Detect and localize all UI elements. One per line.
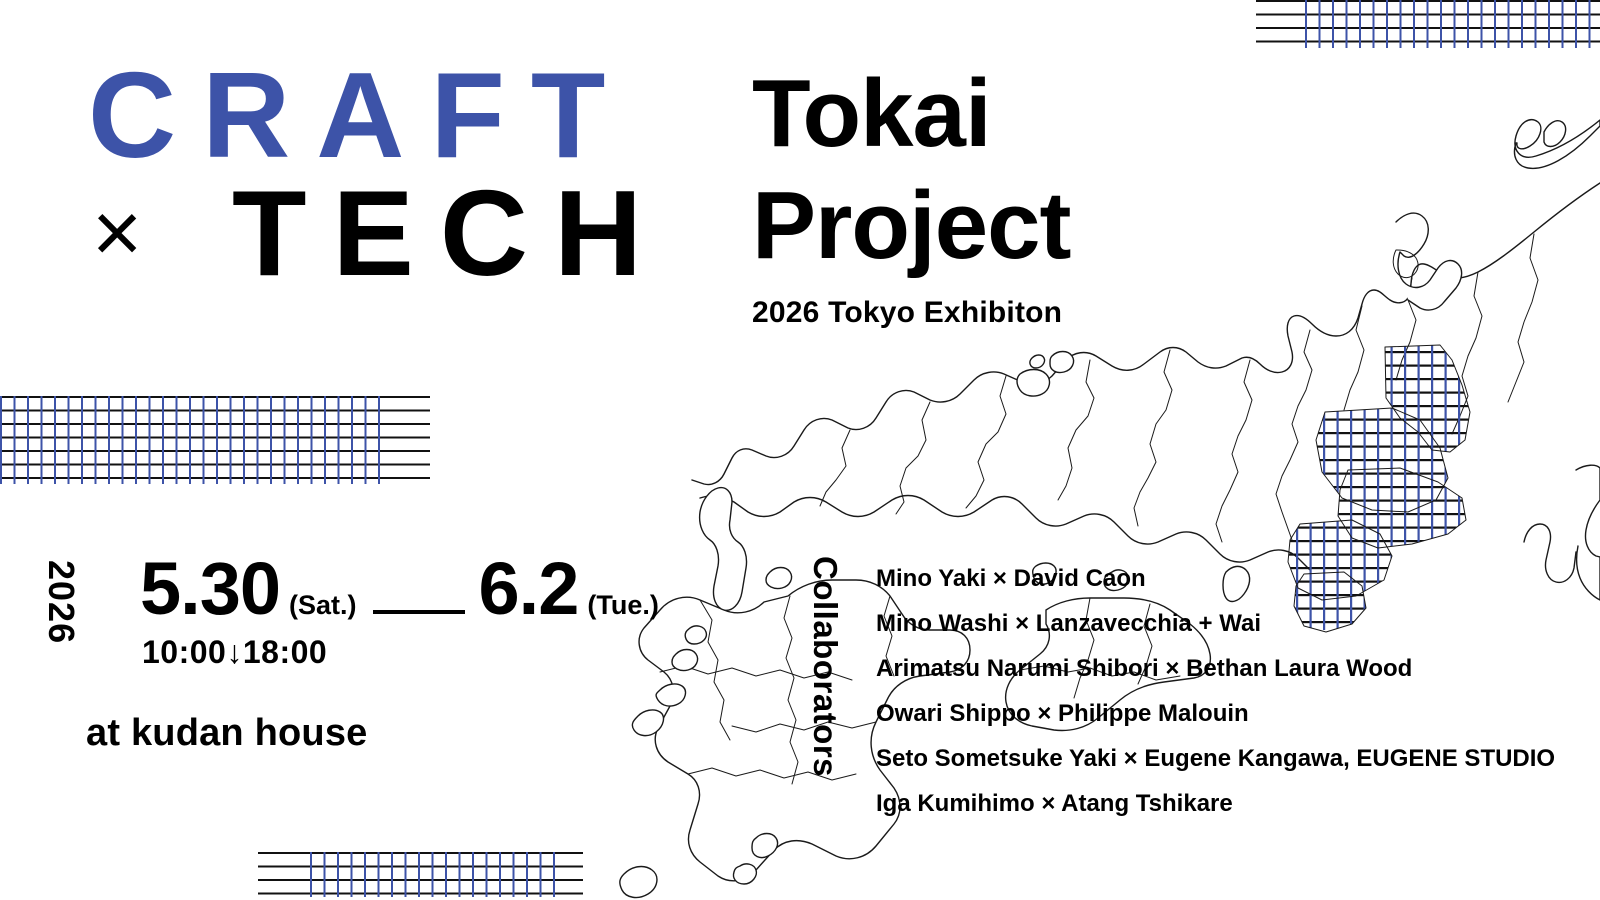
venue-label: at kudan house — [86, 712, 368, 755]
weave-swatch-left — [0, 396, 430, 484]
poster-canvas: CRAFT × TECH Tokai Project 2026 Tokyo Ex… — [0, 0, 1600, 900]
end-day-of-week: (Tue.) — [587, 592, 658, 619]
weave-swatch-bottom — [258, 852, 583, 897]
title-line-1: Tokai — [752, 58, 1070, 170]
exhibition-subtitle: 2026 Tokyo Exhibiton — [752, 296, 1070, 330]
logo-row-craft: CRAFT — [88, 56, 668, 174]
collaborators-heading: Collaborators — [806, 556, 844, 777]
weave-swatch-top-right — [1230, 0, 1600, 48]
logo-word-craft: CRAFT — [88, 56, 631, 174]
logo-word-tech: TECH — [232, 174, 668, 292]
collaborator-item: Mino Yaki × David Caon — [876, 556, 1555, 601]
multiply-icon: × — [92, 190, 232, 276]
opening-hours: 10:00↓18:00 — [142, 634, 327, 671]
title-line-2: Project — [752, 170, 1070, 282]
year-label: 2026 — [40, 560, 82, 644]
logo-row-tech: × TECH — [88, 174, 668, 292]
collaborator-item: Seto Sometsuke Yaki × Eugene Kangawa, EU… — [876, 736, 1555, 781]
collaborator-item: Iga Kumihimo × Atang Tshikare — [876, 781, 1555, 826]
collaborator-item: Mino Washi × Lanzavecchia + Wai — [876, 601, 1555, 646]
date-range: 5.30 (Sat.) 6.2 (Tue.) — [140, 552, 659, 626]
weave-vertical-lines — [310, 852, 558, 897]
weave-vertical-lines — [1305, 0, 1600, 48]
collaborator-item: Arimatsu Narumi Shibori × Bethan Laura W… — [876, 646, 1555, 691]
end-date: 6.2 — [479, 552, 579, 626]
start-date: 5.30 — [140, 552, 280, 626]
weave-vertical-lines — [0, 396, 388, 484]
date-range-dash — [373, 610, 465, 614]
title-block: Tokai Project 2026 Tokyo Exhibiton — [752, 58, 1070, 330]
craft-x-tech-logo: CRAFT × TECH — [88, 56, 668, 292]
collaborators-list: Mino Yaki × David Caon Mino Washi × Lanz… — [876, 556, 1555, 826]
start-day-of-week: (Sat.) — [289, 592, 357, 619]
collaborator-item: Owari Shippo × Philippe Malouin — [876, 691, 1555, 736]
